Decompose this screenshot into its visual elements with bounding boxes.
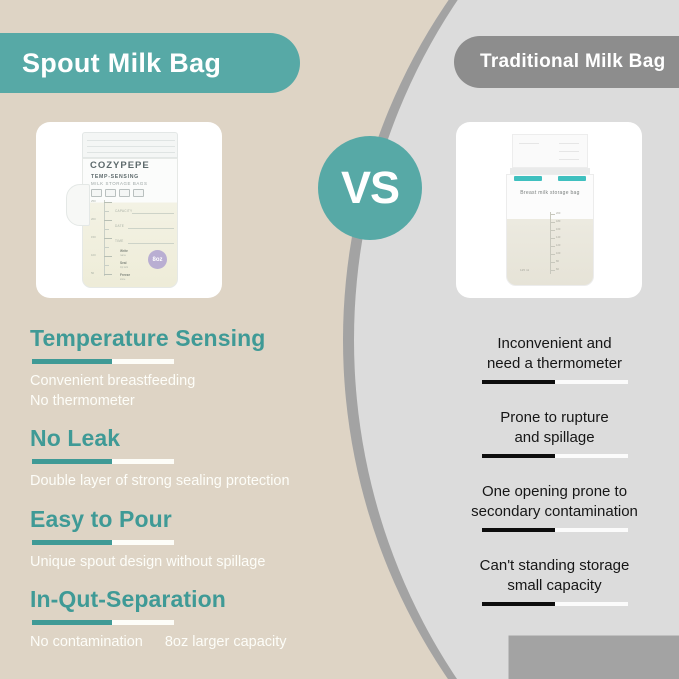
scale-label: 100 bbox=[91, 253, 96, 257]
feature-item: Temperature Sensing Convenient breastfee… bbox=[30, 325, 360, 411]
scale-label: 140 bbox=[556, 236, 560, 239]
spout-milk-bag-illustration: COZYPEPE TEMP-SENSING MILK STORAGE BAGS … bbox=[82, 132, 178, 288]
divider-white-segment bbox=[555, 528, 628, 532]
divider-black-segment bbox=[482, 528, 555, 532]
scale-label: 150 bbox=[91, 235, 96, 239]
feature-description-line: No contamination bbox=[30, 634, 143, 650]
divider-white-segment bbox=[555, 380, 628, 384]
product-card-spout-bag: COZYPEPE TEMP-SENSING MILK STORAGE BAGS … bbox=[36, 122, 222, 298]
feature-description-line: 8oz larger capacity bbox=[165, 634, 287, 650]
note-title: Seal bbox=[120, 261, 127, 265]
divider-white-segment bbox=[112, 620, 174, 625]
con-divider bbox=[430, 602, 679, 606]
note-title: Freeze bbox=[120, 273, 130, 277]
divider-black-segment bbox=[482, 454, 555, 458]
feature-title: In-Qut-Separation bbox=[30, 586, 360, 613]
feature-divider bbox=[32, 620, 360, 625]
note-sub: zip lock bbox=[120, 266, 128, 269]
divider-white-segment bbox=[112, 359, 174, 364]
feature-divider bbox=[32, 459, 360, 464]
vs-label: VS bbox=[341, 162, 399, 214]
banner-traditional-milk-bag: Traditional Milk Bag bbox=[454, 36, 679, 88]
divider-white-segment bbox=[555, 602, 628, 606]
divider-teal-segment bbox=[32, 540, 112, 545]
divider-teal-segment bbox=[32, 459, 112, 464]
feature-description-line: No thermometer bbox=[30, 392, 360, 412]
tear-notch-left bbox=[514, 176, 542, 181]
note-sub: store bbox=[120, 278, 125, 281]
divider-teal-segment bbox=[32, 620, 112, 625]
feature-item: Easy to Pour Unique spout design without… bbox=[30, 506, 360, 573]
con-text-line: small capacity bbox=[430, 576, 679, 596]
con-text-line: Prone to rupture bbox=[430, 408, 679, 428]
divider-white-segment bbox=[112, 540, 174, 545]
divider-white-segment bbox=[112, 459, 174, 464]
feature-item: In-Qut-Separation No contamination8oz la… bbox=[30, 586, 360, 653]
scale-label: 180 bbox=[556, 220, 560, 223]
con-item: One opening prone to secondary contamina… bbox=[430, 482, 679, 532]
note-title: Write bbox=[120, 249, 128, 253]
capacity-badge-label: 8oz bbox=[152, 257, 162, 263]
traditional-milk-bag-illustration: Breast milk storage bag 200 180 160 140 … bbox=[506, 134, 594, 286]
divider-black-segment bbox=[482, 380, 555, 384]
con-item: Prone to rupture and spillage bbox=[430, 408, 679, 458]
divider-teal-segment bbox=[32, 359, 112, 364]
scale-label: 250 bbox=[91, 199, 96, 203]
note-sub: name bbox=[120, 254, 126, 257]
con-text-line: One opening prone to bbox=[430, 482, 679, 502]
scale-label: 60 bbox=[556, 268, 559, 271]
scale-label: 200 bbox=[91, 217, 96, 221]
con-text-line: Inconvenient and bbox=[430, 334, 679, 354]
bag-top-flap bbox=[512, 134, 588, 168]
con-divider bbox=[430, 454, 679, 458]
banner-left-label: Spout Milk Bag bbox=[22, 48, 221, 79]
feature-list-cons: Inconvenient and need a thermometer Pron… bbox=[430, 334, 679, 630]
scale-label: 200 bbox=[556, 212, 560, 215]
con-item: Inconvenient and need a thermometer bbox=[430, 334, 679, 384]
feature-divider bbox=[32, 540, 360, 545]
divider-white-segment bbox=[555, 454, 628, 458]
feature-title: Easy to Pour bbox=[30, 506, 360, 533]
feature-description-line: Unique spout design without spillage bbox=[30, 553, 360, 573]
feature-description-row: No contamination8oz larger capacity bbox=[30, 633, 360, 653]
product-card-traditional-bag: Breast milk storage bag 200 180 160 140 … bbox=[456, 122, 642, 298]
capacity-badge: 8oz bbox=[148, 250, 167, 269]
brand-subtitle-1: TEMP-SENSING bbox=[91, 174, 139, 180]
scale-label: 160 bbox=[556, 228, 560, 231]
con-text-line: and spillage bbox=[430, 428, 679, 448]
banner-spout-milk-bag: Spout Milk Bag bbox=[0, 33, 300, 93]
pour-spout bbox=[66, 184, 90, 226]
con-divider bbox=[430, 380, 679, 384]
feature-item: No Leak Double layer of strong sealing p… bbox=[30, 425, 360, 492]
feature-icon-row bbox=[91, 189, 144, 197]
brand-subtitle-2: MILK STORAGE BAGS bbox=[91, 181, 147, 186]
feature-title: No Leak bbox=[30, 425, 360, 452]
comparison-infographic: Spout Milk Bag Traditional Milk Bag VS C… bbox=[0, 0, 679, 679]
field-label-capacity: CAPACITY bbox=[115, 209, 132, 213]
con-text-line: Can't standing storage bbox=[430, 556, 679, 576]
feature-title: Temperature Sensing bbox=[30, 325, 360, 352]
field-label-date: DATE bbox=[115, 224, 124, 228]
con-divider bbox=[430, 528, 679, 532]
zip-seal-top bbox=[82, 132, 178, 158]
con-text-line: secondary contamination bbox=[430, 502, 679, 522]
divider-black-segment bbox=[482, 602, 555, 606]
scale-label: 80 bbox=[556, 260, 559, 263]
feature-divider bbox=[32, 359, 360, 364]
capacity-text: 125 ml bbox=[520, 268, 529, 272]
vs-badge: VS bbox=[318, 136, 422, 240]
con-text-line: need a thermometer bbox=[430, 354, 679, 374]
brand-name: Breast milk storage bag bbox=[506, 190, 594, 196]
brand-name: COZYPEPE bbox=[90, 160, 178, 171]
feature-description-line: Double layer of strong sealing protectio… bbox=[30, 472, 360, 492]
scale-label: 50 bbox=[91, 271, 94, 275]
tear-notch-right bbox=[558, 176, 586, 181]
icon-badge-1 bbox=[91, 189, 102, 197]
scale-label: 100 bbox=[556, 252, 560, 255]
feature-list-pros: Temperature Sensing Convenient breastfee… bbox=[30, 325, 360, 667]
icon-badge-4 bbox=[133, 189, 144, 197]
banner-right-label: Traditional Milk Bag bbox=[480, 51, 665, 73]
scale-label: 120 bbox=[556, 244, 560, 247]
icon-badge-3 bbox=[119, 189, 130, 197]
icon-badge-2 bbox=[105, 189, 116, 197]
field-label-time: TIME bbox=[115, 239, 123, 243]
feature-description-line: Convenient breastfeeding bbox=[30, 372, 360, 392]
con-item: Can't standing storage small capacity bbox=[430, 556, 679, 606]
